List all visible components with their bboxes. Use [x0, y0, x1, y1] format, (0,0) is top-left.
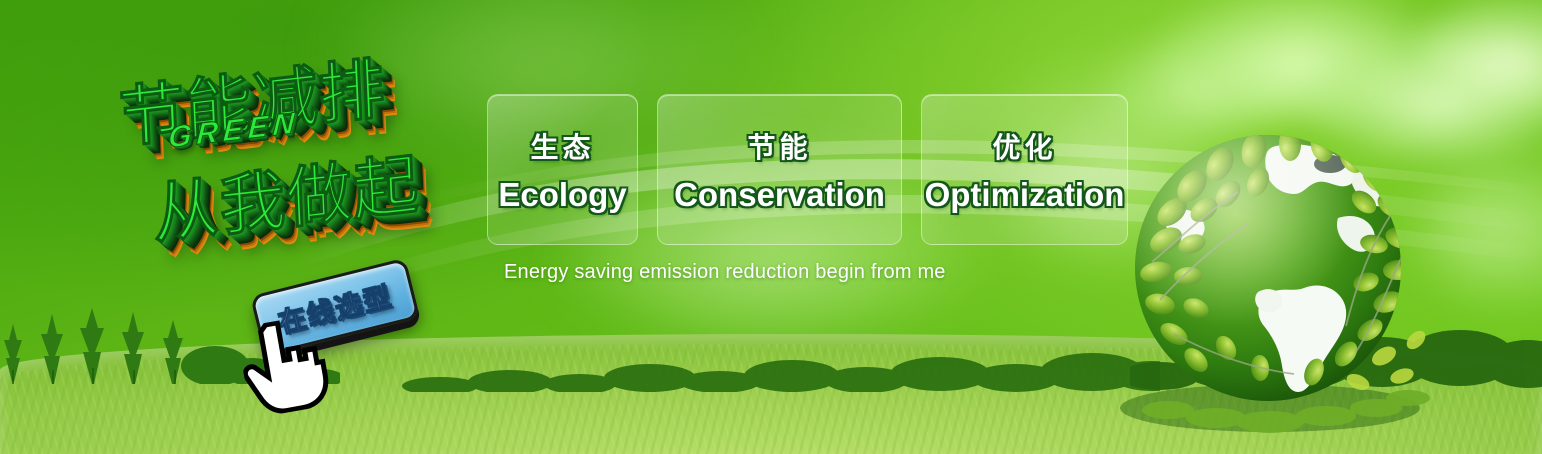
cloud-shape	[1420, 0, 1542, 110]
banner-subtitle: Energy saving emission reduction begin f…	[504, 261, 946, 284]
cloud-shape	[1420, 150, 1542, 310]
leaf-covered-globe-icon	[1108, 120, 1438, 440]
card-title-cn: 节能	[747, 126, 811, 166]
hero-headline-3d: 节能减排 GREEN 从我做起	[100, 42, 500, 282]
feature-card-conservation[interactable]: 节能 Conservation	[657, 94, 902, 245]
cloud-shape	[1150, 0, 1450, 120]
hand-pointer-icon	[236, 313, 337, 419]
feature-cards: 生态 Ecology 节能 Conservation 优化 Optimizati…	[487, 94, 1128, 245]
card-title-cn: 优化	[992, 126, 1056, 166]
green-energy-hero-banner: 节能减排 GREEN 从我做起 在线选型 生态 Ecology 节能 Conse…	[0, 0, 1542, 454]
card-title-en: Optimization	[925, 176, 1125, 214]
card-title-cn: 生态	[530, 126, 594, 166]
card-title-en: Conservation	[674, 176, 885, 214]
feature-card-optimization[interactable]: 优化 Optimization	[921, 94, 1128, 245]
feature-card-ecology[interactable]: 生态 Ecology	[487, 94, 638, 245]
card-title-en: Ecology	[498, 176, 626, 214]
